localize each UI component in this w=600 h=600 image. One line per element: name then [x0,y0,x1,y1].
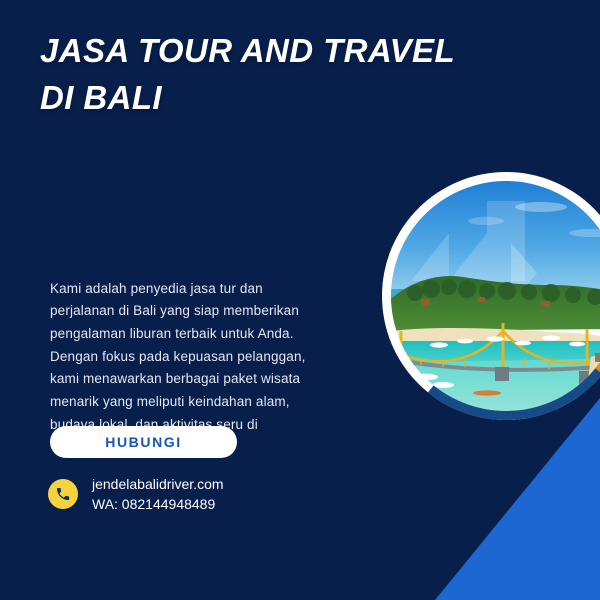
contact-block: jendelabalidriver.com WA: 082144948489 [48,474,224,515]
page-title: JASA TOUR AND TRAVEL DI BALI [40,28,470,122]
destination-photo [391,181,600,411]
bali-bridge-illustration [391,181,600,411]
contact-whatsapp[interactable]: WA: 082144948489 [92,494,224,514]
body-paragraph: Kami adalah penyedia jasa tur dan perjal… [50,278,318,437]
hubungi-button[interactable]: HUBUNGI [50,426,237,458]
phone-icon[interactable] [48,479,78,509]
headline-line-1: JASA TOUR AND TRAVEL [40,28,470,75]
contact-details: jendelabalidriver.com WA: 082144948489 [92,474,224,515]
phone-glyph [55,486,71,502]
headline-line-2: DI BALI [40,75,470,122]
promo-poster: JASA TOUR AND TRAVEL DI BALI Kami adalah… [0,0,600,600]
contact-website[interactable]: jendelabalidriver.com [92,474,224,494]
